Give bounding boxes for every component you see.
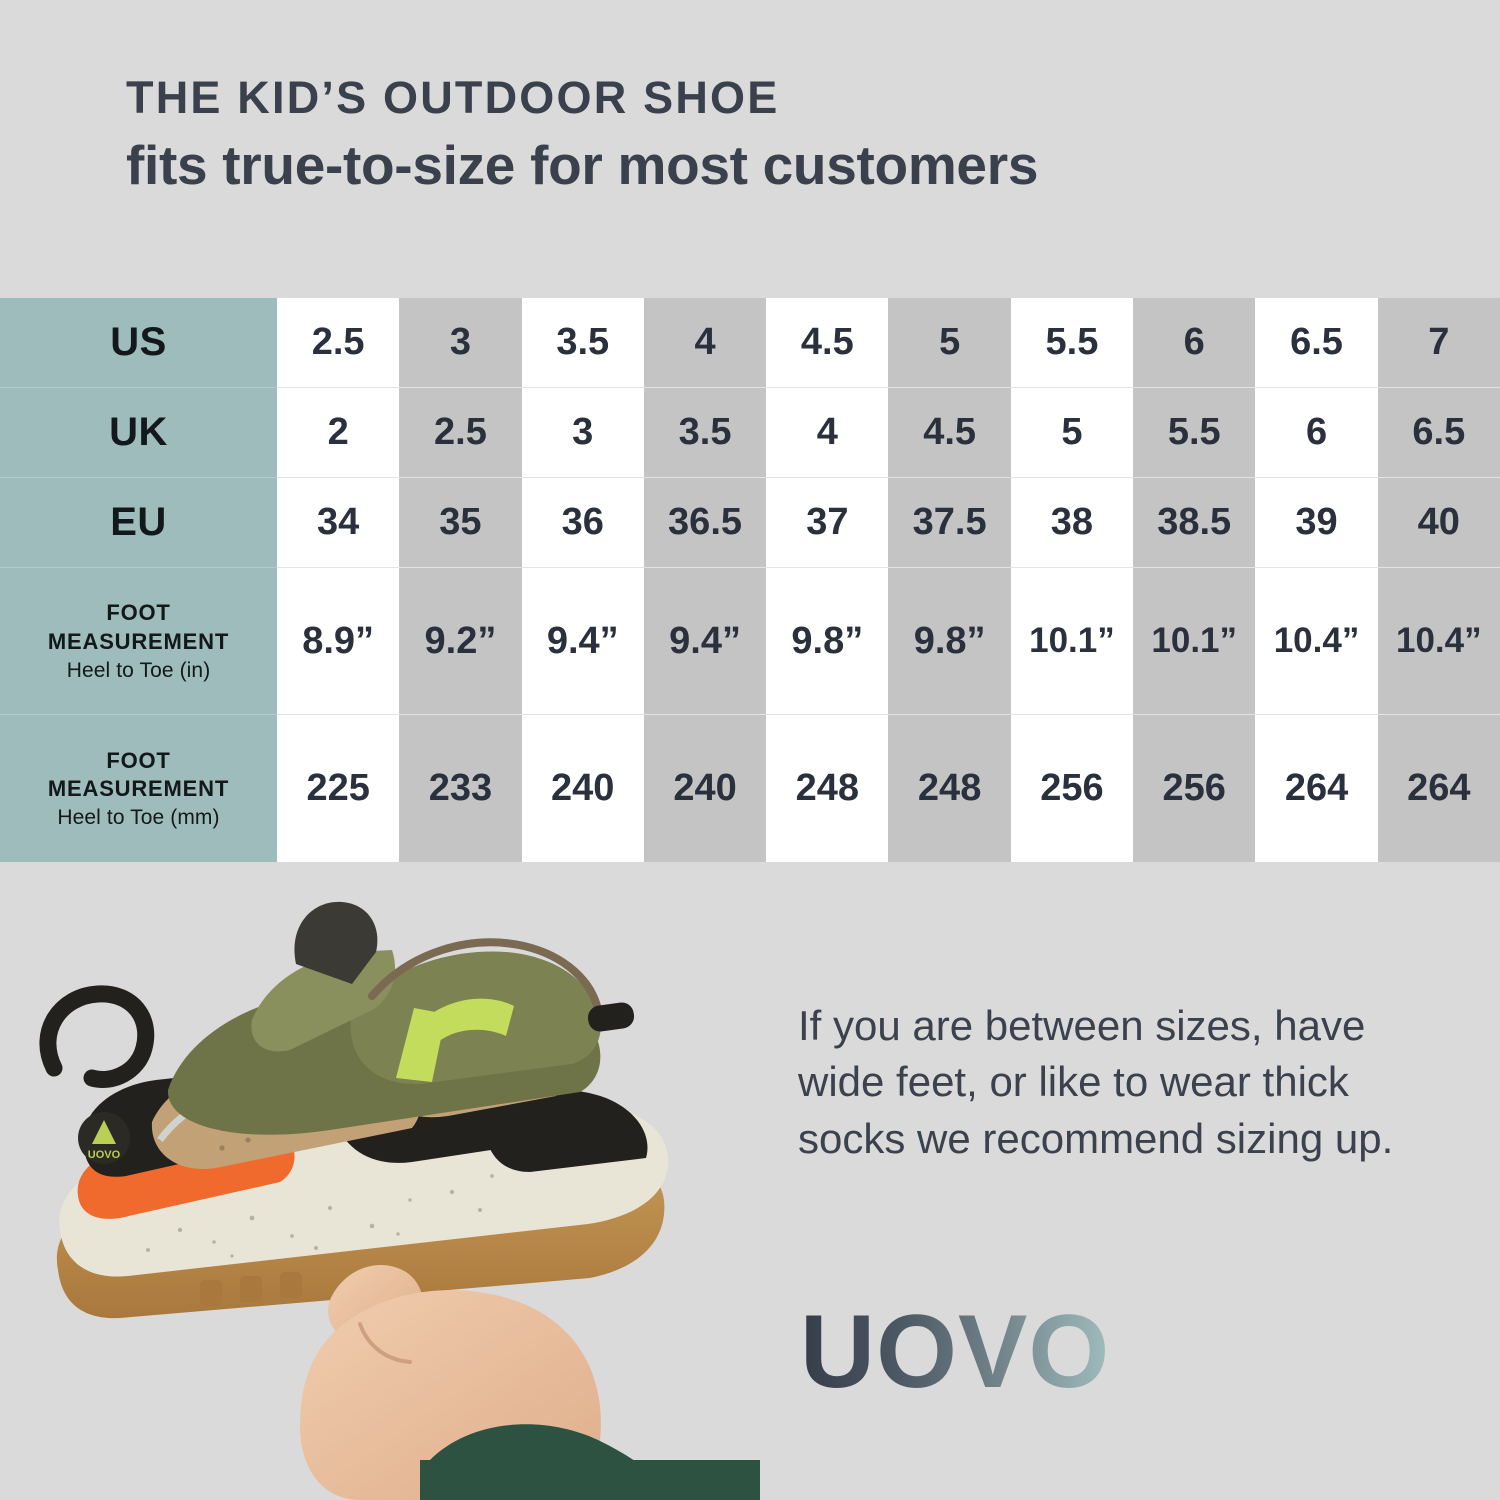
cell-eu-3: 36	[522, 478, 644, 568]
row-cells-uk: 2 2.5 3 3.5 4 4.5 5 5.5 6 6.5	[277, 388, 1500, 478]
cell-eu-1: 34	[277, 478, 399, 568]
cell-us-5: 4.5	[766, 298, 888, 388]
shoe-illustration: UOVO	[0, 900, 760, 1500]
cell-eu-10: 40	[1378, 478, 1500, 568]
cell-in-3: 9.4”	[522, 568, 644, 715]
row-label-subtitle: Heel to Toe (in)	[67, 659, 211, 683]
cell-mm-6: 248	[888, 715, 1010, 862]
cell-eu-7: 38	[1011, 478, 1133, 568]
cell-uk-7: 5	[1011, 388, 1133, 478]
cell-eu-5: 37	[766, 478, 888, 568]
sizing-note: If you are between sizes, have wide feet…	[798, 998, 1418, 1167]
cell-mm-1: 225	[277, 715, 399, 862]
cell-us-7: 5.5	[1011, 298, 1133, 388]
row-label-line-1: FOOT	[106, 747, 170, 775]
cell-us-2: 3	[399, 298, 521, 388]
row-label-foot-inches: FOOT MEASUREMENT Heel to Toe (in)	[0, 568, 277, 715]
cell-in-4: 9.4”	[644, 568, 766, 715]
cell-mm-2: 233	[399, 715, 521, 862]
row-label-text: EU	[110, 500, 167, 545]
cell-uk-3: 3	[522, 388, 644, 478]
cell-mm-7: 256	[1011, 715, 1133, 862]
cell-mm-4: 240	[644, 715, 766, 862]
cell-in-9: 10.4”	[1255, 568, 1377, 715]
cell-mm-10: 264	[1378, 715, 1500, 862]
cell-uk-9: 6	[1255, 388, 1377, 478]
cell-us-10: 7	[1378, 298, 1500, 388]
cell-eu-2: 35	[399, 478, 521, 568]
cell-mm-3: 240	[522, 715, 644, 862]
cell-mm-5: 248	[766, 715, 888, 862]
cell-us-6: 5	[888, 298, 1010, 388]
cell-us-4: 4	[644, 298, 766, 388]
title-line-1: THE KID’S OUTDOOR SHOE	[126, 74, 1426, 121]
cell-uk-5: 4	[766, 388, 888, 478]
cell-in-8: 10.1”	[1133, 568, 1255, 715]
table-row-foot-mm: FOOT MEASUREMENT Heel to Toe (mm) 225 23…	[0, 715, 1500, 862]
cell-us-9: 6.5	[1255, 298, 1377, 388]
cell-uk-1: 2	[277, 388, 399, 478]
product-photo: UOVO	[0, 900, 760, 1500]
cell-mm-9: 264	[1255, 715, 1377, 862]
size-conversion-table: US 2.5 3 3.5 4 4.5 5 5.5 6 6.5 7 UK 2 2.…	[0, 298, 1500, 892]
page-title: THE KID’S OUTDOOR SHOE fits true-to-size…	[126, 74, 1426, 197]
cell-us-8: 6	[1133, 298, 1255, 388]
row-label-line-2: MEASUREMENT	[48, 775, 229, 803]
cell-uk-2: 2.5	[399, 388, 521, 478]
row-label-text: UK	[109, 410, 168, 455]
cell-in-2: 9.2”	[399, 568, 521, 715]
cell-in-7: 10.1”	[1011, 568, 1133, 715]
row-cells-eu: 34 35 36 36.5 37 37.5 38 38.5 39 40	[277, 478, 1500, 568]
table-row-us: US 2.5 3 3.5 4 4.5 5 5.5 6 6.5 7	[0, 298, 1500, 388]
row-cells-foot-mm: 225 233 240 240 248 248 256 256 264 264	[277, 715, 1500, 862]
title-line-2: fits true-to-size for most customers	[126, 135, 1426, 197]
cell-uk-10: 6.5	[1378, 388, 1500, 478]
row-label-subtitle: Heel to Toe (mm)	[57, 806, 219, 830]
cell-in-6: 9.8”	[888, 568, 1010, 715]
row-label-eu: EU	[0, 478, 277, 568]
cell-in-5: 9.8”	[766, 568, 888, 715]
brand-badge: UOVO	[78, 1112, 130, 1164]
cell-us-3: 3.5	[522, 298, 644, 388]
cell-eu-4: 36.5	[644, 478, 766, 568]
cell-in-1: 8.9”	[277, 568, 399, 715]
brand-logo: UOVO	[800, 1300, 1110, 1404]
cell-in-10: 10.4”	[1378, 568, 1500, 715]
row-label-us: US	[0, 298, 277, 388]
svg-text:UOVO: UOVO	[88, 1149, 121, 1161]
heel-pull-loop	[48, 994, 146, 1080]
row-label-foot-mm: FOOT MEASUREMENT Heel to Toe (mm)	[0, 715, 277, 862]
row-cells-foot-inches: 8.9” 9.2” 9.4” 9.4” 9.8” 9.8” 10.1” 10.1…	[277, 568, 1500, 715]
table-row-uk: UK 2 2.5 3 3.5 4 4.5 5 5.5 6 6.5	[0, 388, 1500, 478]
cell-us-1: 2.5	[277, 298, 399, 388]
row-cells-us: 2.5 3 3.5 4 4.5 5 5.5 6 6.5 7	[277, 298, 1500, 388]
cell-uk-6: 4.5	[888, 388, 1010, 478]
row-label-line-1: FOOT	[106, 599, 170, 627]
row-label-line-2: MEASUREMENT	[48, 628, 229, 656]
table-row-foot-inches: FOOT MEASUREMENT Heel to Toe (in) 8.9” 9…	[0, 568, 1500, 715]
cell-eu-9: 39	[1255, 478, 1377, 568]
cell-eu-8: 38.5	[1133, 478, 1255, 568]
table-row-eu: EU 34 35 36 36.5 37 37.5 38 38.5 39 40	[0, 478, 1500, 568]
row-label-uk: UK	[0, 388, 277, 478]
row-label-text: US	[110, 320, 167, 365]
cell-uk-8: 5.5	[1133, 388, 1255, 478]
cell-mm-8: 256	[1133, 715, 1255, 862]
cell-eu-6: 37.5	[888, 478, 1010, 568]
cell-uk-4: 3.5	[644, 388, 766, 478]
sleeve-cuff	[420, 1460, 760, 1500]
